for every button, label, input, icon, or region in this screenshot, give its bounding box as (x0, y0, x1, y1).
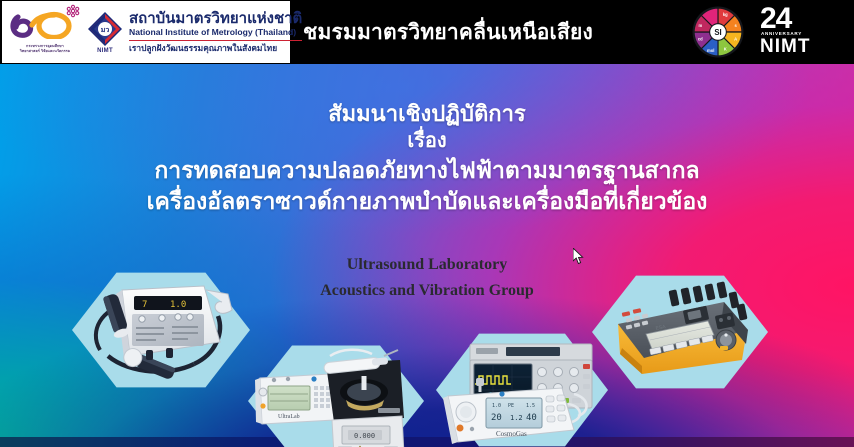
title-line-4: เครื่องอัลตราซาวด์กายภาพบำบัดและเครื่องม… (0, 186, 854, 217)
slide-header: กระทรวงการอุดมศึกษา วิทยาศาสตร์ วิจัยและ… (0, 0, 854, 64)
photo-oscilloscope-and-therapy-unit: 1.0 PE 1.5 20 1.2 40 CosmoGas (440, 332, 606, 447)
si-unit-A: A (734, 36, 737, 41)
subtitle-line-2: Acoustics and Vibration Group (0, 278, 854, 304)
ministry-line-2: วิทยาศาสตร์ วิจัยและนวัตกรรม (6, 49, 84, 54)
mouse-pointer-cursor (573, 248, 584, 265)
title-line-3: การทดสอบความปลอดภัยทางไฟฟ้าตามมาตรฐานสาก… (0, 155, 854, 186)
slide-body: 7 1.0 (0, 64, 854, 447)
header-title: ชมรมมาตรวิทยาคลื่นเหนือเสียง (303, 0, 593, 64)
header-logo-box: กระทรวงการอุดมศึกษา วิทยาศาสตร์ วิจัยและ… (2, 1, 290, 63)
ministry-60-logo: กระทรวงการอุดมศึกษา วิทยาศาสตร์ วิจัยและ… (6, 4, 84, 60)
title-line-2: เรื่อง (0, 128, 854, 154)
title-line-1: สัมมนาเชิงปฏิบัติการ (0, 100, 854, 128)
svg-text:20: 20 (491, 413, 502, 423)
background-bottom-band (0, 437, 854, 447)
si-unit-m: m (698, 23, 702, 28)
nimt-mark-caption: NIMT (84, 48, 126, 54)
subtitle-line-1: Ultrasound Laboratory (0, 252, 854, 278)
thai-flower-icon (66, 4, 80, 18)
nimt-mark: มว NIMT (84, 4, 126, 60)
svg-text:UltraLab: UltraLab (278, 414, 300, 420)
nimt-mark-label: มว (101, 27, 110, 34)
svg-text:1.2: 1.2 (510, 414, 523, 422)
anniversary-org: NIMT (760, 37, 810, 57)
main-title-block: สัมมนาเชิงปฏิบัติการ เรื่อง การทดสอบความ… (0, 100, 854, 217)
si-unit-cd: cd (698, 36, 703, 41)
anniversary-badge: 24 ANNIVERSARY NIMT (760, 5, 832, 59)
nimt-name-thai: สถาบันมาตรวิทยาแห่งชาติ (129, 10, 302, 27)
svg-text:1.0: 1.0 (492, 403, 501, 409)
nimt-wordmark: สถาบันมาตรวิทยาแห่งชาติ National Institu… (126, 10, 302, 54)
si-unit-kg: kg (723, 12, 728, 17)
si-units-wheel-icon: kg s A K mol cd m SI (692, 6, 744, 58)
si-wheel-center-label: SI (714, 28, 721, 37)
svg-text:CosmoGas: CosmoGas (496, 430, 527, 438)
nimt-slogan: เราปลูกฝังวัฒนธรรมคุณภาพในสังคมไทย (129, 40, 302, 54)
si-unit-mol: mol (707, 48, 714, 53)
svg-text:1.5: 1.5 (526, 403, 535, 409)
svg-text:0.000: 0.000 (354, 432, 375, 440)
anniversary-number: 24 (760, 5, 832, 33)
nimt-diamond-icon: มว (88, 12, 122, 46)
si-unit-K: K (724, 47, 727, 52)
presentation-slide: 7 1.0 (0, 0, 854, 447)
photo-radiation-force-balance: UltraLab 0.000 (252, 346, 420, 447)
ministry-name: กระทรวงการอุดมศึกษา วิทยาศาสตร์ วิจัยและ… (6, 44, 84, 53)
svg-text:PE: PE (508, 403, 514, 409)
svg-text:40: 40 (526, 413, 537, 423)
nimt-name-english: National Institute of Metrology (Thailan… (129, 27, 302, 38)
subtitle-block: Ultrasound Laboratory Acoustics and Vibr… (0, 252, 854, 304)
